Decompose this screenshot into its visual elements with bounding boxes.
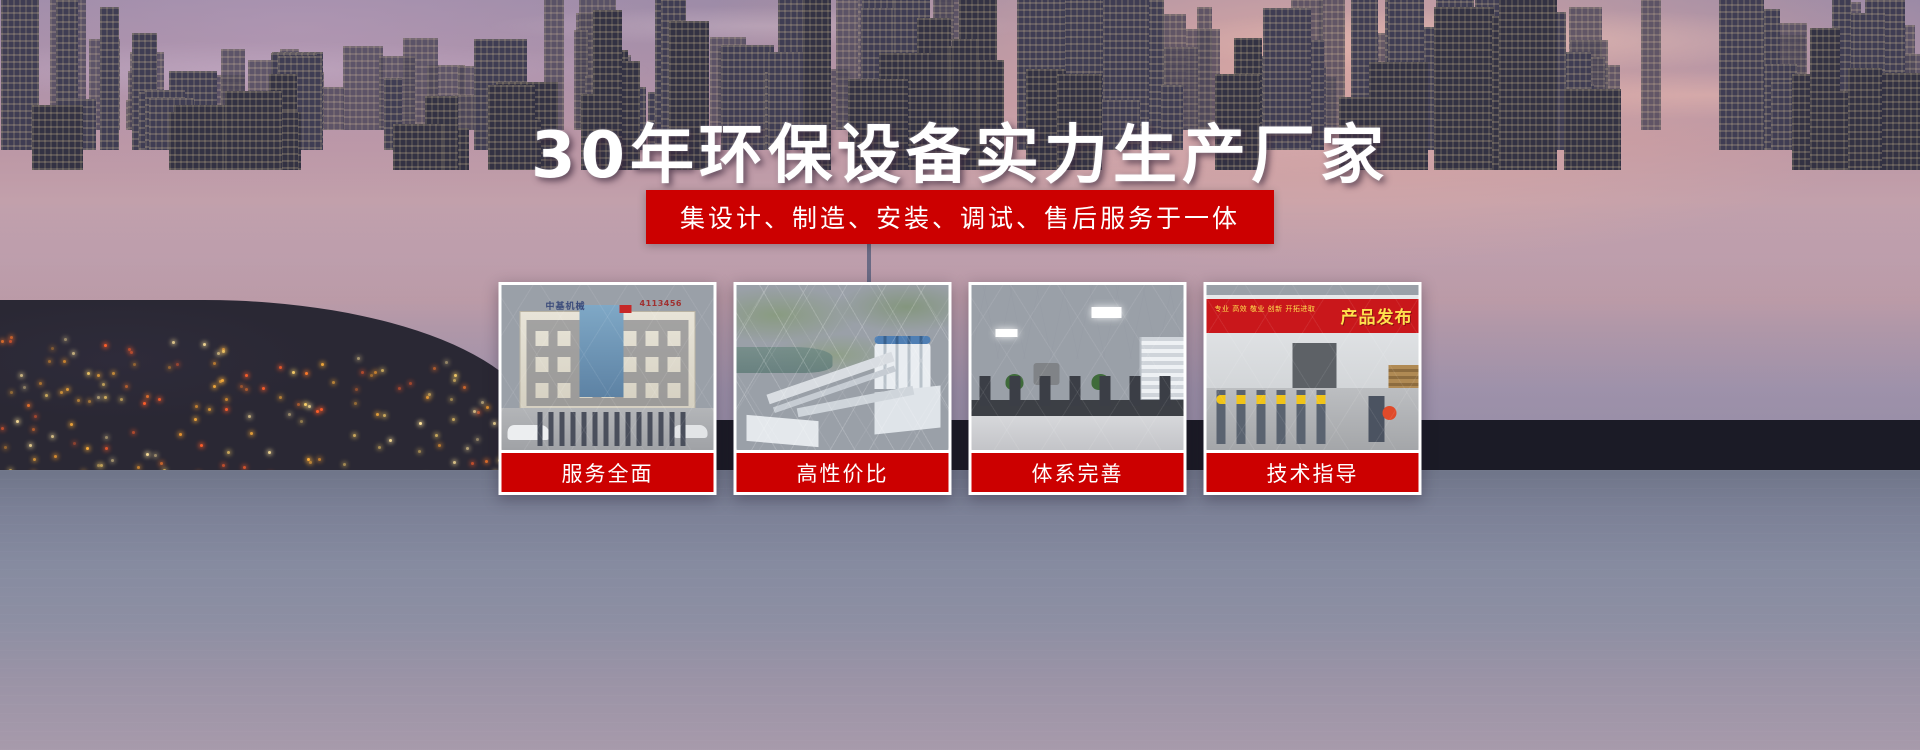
night-light [39, 382, 42, 385]
night-light [343, 463, 346, 466]
night-light [208, 408, 211, 411]
workshop-red-banner: 专业 高效 敬业 创新 开拓进取 产品发布 [1207, 299, 1419, 333]
night-light [376, 413, 379, 416]
night-light [27, 404, 30, 407]
night-light [9, 340, 12, 343]
aerial-production-plant-photo [737, 285, 949, 450]
night-light [87, 372, 90, 375]
card-caption: 服务全面 [502, 453, 714, 492]
building-sign-text: 中基机械 [546, 299, 586, 312]
flag-icon [620, 305, 632, 313]
night-light [435, 434, 438, 437]
feature-card[interactable]: 专业 高效 敬业 创新 开拓进取 产品发布 技术指导 [1204, 282, 1422, 495]
night-light [16, 420, 19, 423]
night-light [318, 458, 321, 461]
night-light [63, 360, 66, 363]
night-light [304, 403, 307, 406]
night-light [23, 386, 26, 389]
night-light [194, 418, 197, 421]
night-light [105, 447, 108, 450]
night-light [245, 374, 248, 377]
card-caption: 高性价比 [737, 453, 949, 492]
office-interior-photo [972, 285, 1184, 450]
card-caption: 技术指导 [1207, 453, 1419, 492]
hero-banner: 30年环保设备实力生产厂家 集设计、制造、安装、调试、售后服务于一体 中基机械 … [0, 0, 1920, 750]
banner-big-text: 产品发布 [1341, 303, 1413, 328]
night-light [493, 422, 496, 425]
feature-card[interactable]: 中基机械 4113456 服务全面 [499, 282, 717, 495]
night-light [428, 393, 431, 396]
workshop-workers-photo: 专业 高效 敬业 创新 开拓进取 产品发布 [1207, 285, 1419, 450]
night-light [383, 414, 386, 417]
night-light [309, 461, 312, 464]
night-light [203, 343, 206, 346]
night-light [4, 446, 7, 449]
night-light [97, 396, 100, 399]
night-light [374, 371, 377, 374]
night-light [102, 383, 105, 386]
night-light [381, 369, 384, 372]
feature-card[interactable]: 高性价比 [734, 282, 952, 495]
night-light [132, 431, 135, 434]
night-light [179, 433, 182, 436]
subtitle-banner: 集设计、制造、安装、调试、售后服务于一体 [646, 190, 1274, 244]
night-light [370, 374, 373, 377]
feature-card-row: 中基机械 4113456 服务全面 [499, 282, 1422, 495]
night-light [463, 386, 466, 389]
page-title: 30年环保设备实力生产厂家 [0, 104, 1920, 196]
night-light [104, 344, 107, 347]
night-light [476, 438, 479, 441]
night-light [20, 374, 23, 377]
night-light [297, 403, 300, 406]
night-light [418, 450, 421, 453]
night-light [130, 351, 133, 354]
night-light [1, 340, 4, 343]
night-light [195, 405, 198, 408]
banner-small-text: 专业 高效 敬业 创新 开拓进取 [1215, 305, 1316, 314]
night-light [321, 363, 324, 366]
night-light [72, 352, 75, 355]
night-light [51, 435, 54, 438]
night-light [133, 363, 136, 366]
feature-card[interactable]: 体系完善 [969, 282, 1187, 495]
night-light [137, 466, 140, 469]
night-light [105, 436, 108, 439]
company-office-building-photo: 中基机械 4113456 [502, 285, 714, 450]
night-light [279, 366, 282, 369]
card-caption: 体系完善 [972, 453, 1184, 492]
water-ripples [0, 470, 1920, 750]
night-light [357, 357, 360, 360]
night-light [248, 415, 251, 418]
night-light [213, 385, 216, 388]
night-light [308, 405, 311, 408]
night-light [305, 372, 308, 375]
night-light [32, 428, 35, 431]
night-light [438, 444, 441, 447]
night-light [54, 455, 57, 458]
night-light [389, 439, 392, 442]
night-light [125, 385, 128, 388]
building-phone-text: 4113456 [640, 299, 682, 308]
night-light [453, 379, 456, 382]
night-light [10, 336, 13, 339]
